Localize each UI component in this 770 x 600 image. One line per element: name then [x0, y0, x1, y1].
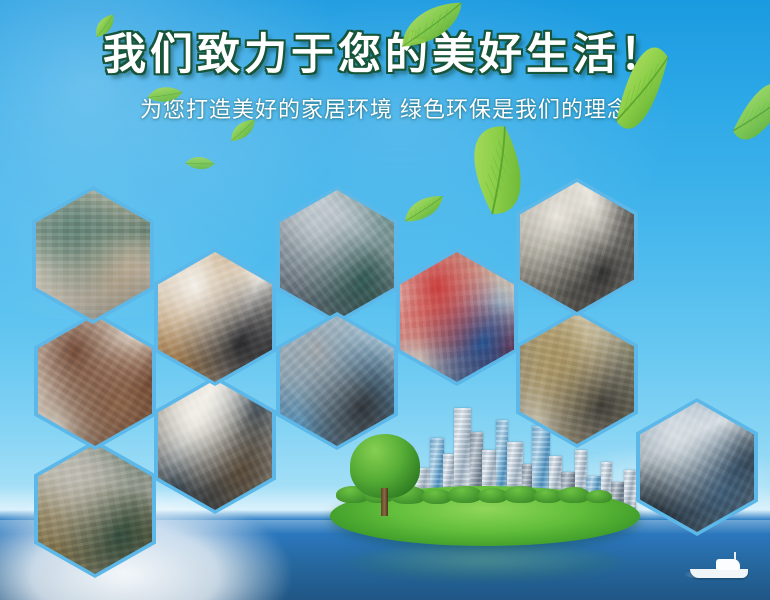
hex-duct-cleaning[interactable]: [276, 186, 398, 324]
hex-photo-shading: [280, 190, 394, 320]
hex-photo-clip: [158, 252, 272, 382]
hex-photo-shading: [158, 380, 272, 510]
hex-photo-clip: [280, 316, 394, 446]
hex-photo-clip: [520, 314, 634, 444]
hex-photo-shading: [38, 316, 152, 446]
hex-photo-clip: [158, 380, 272, 510]
hex-photo-shading: [158, 252, 272, 382]
hex-photo-shading: [520, 314, 634, 444]
hex-photo-shading: [520, 182, 634, 312]
hex-photo-shading: [400, 252, 514, 382]
boat-hull: [690, 569, 748, 578]
island-reflection: [345, 544, 625, 582]
hex-photo-clip: [38, 316, 152, 446]
hex-photo-shading: [36, 190, 150, 320]
boat-mast: [734, 552, 736, 560]
promo-banner: 我们致力于您的美好生活！ 为您打造美好的家居环境 绿色环保是我们的理念: [0, 0, 770, 600]
tree-trunk: [381, 488, 388, 516]
hex-carpet-shampoo[interactable]: [396, 248, 518, 386]
boat-cabin: [716, 559, 740, 570]
hex-photo-shading: [280, 316, 394, 446]
hex-photo-clip: [640, 402, 754, 532]
hex-photo-clip: [38, 444, 152, 574]
island-tree: [350, 434, 420, 514]
hex-photo-clip: [520, 182, 634, 312]
hex-kitchen-hood-cleaning[interactable]: [516, 178, 638, 316]
hex-photo-clip: [280, 190, 394, 320]
island-bush: [504, 486, 538, 503]
hex-photo-shading: [38, 444, 152, 574]
hex-tile-tiling-work[interactable]: [32, 186, 154, 324]
hex-photo-shading: [640, 402, 754, 532]
hex-photo-clip: [400, 252, 514, 382]
island-bush: [448, 486, 482, 503]
hex-photo-clip: [36, 190, 150, 320]
hex-stair-mopping[interactable]: [154, 248, 276, 386]
island-bush: [586, 490, 612, 503]
boat: [690, 554, 748, 578]
hex-handrail-painting[interactable]: [34, 312, 156, 450]
